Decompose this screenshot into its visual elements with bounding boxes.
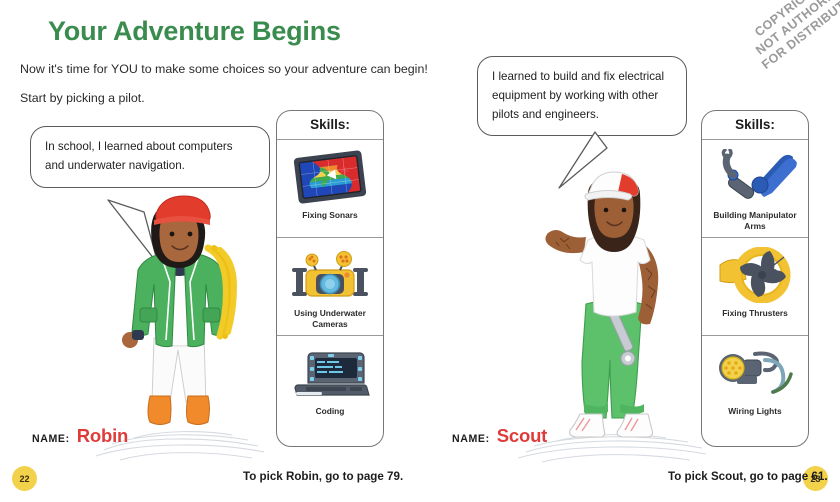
speech-bubble-robin: In school, I learned about computers and…	[30, 126, 270, 188]
intro-text-line-1: Now it's time for YOU to make some choic…	[20, 62, 428, 76]
head-scout	[585, 172, 640, 252]
skill-cell-wiring-lights[interactable]: Wiring Lights	[702, 336, 808, 434]
underwater-camera-icon	[280, 244, 380, 306]
head-robin	[151, 196, 210, 268]
skill-label-manipulator-arms: Building Manipulator Arms	[705, 210, 805, 231]
footer-note-robin[interactable]: To pick Robin, go to page 79.	[243, 470, 403, 483]
book-spread: COPYRIGHTED NOT AUTHORIZED FOR DISTRIBUT…	[0, 0, 840, 502]
watermark-line-2: NOT AUTHORIZED	[750, 0, 840, 60]
green-jacket	[132, 254, 228, 347]
skills-panel-robin: Skills:	[276, 110, 384, 447]
speech-bubble-tail-robin	[100, 198, 190, 270]
name-label-robin: NAME:	[32, 433, 70, 445]
thruster-icon	[705, 244, 805, 306]
copyright-watermark: COPYRIGHTED NOT AUTHORIZED FOR DISTRIBUT…	[740, 0, 840, 72]
watermark-line-1: COPYRIGHTED	[740, 0, 840, 49]
skill-label-underwater-cameras: Using Underwater Cameras	[280, 308, 380, 329]
name-label-scout: NAME:	[452, 433, 490, 445]
skill-label-wiring-lights: Wiring Lights	[728, 406, 781, 417]
rugged-laptop-icon	[280, 342, 380, 404]
sneakers	[570, 414, 653, 437]
speech-bubble-scout: I learned to build and fix electrical eq…	[477, 56, 687, 136]
skill-label-fixing-thrusters: Fixing Thrusters	[722, 308, 788, 319]
skills-heading-robin: Skills:	[277, 111, 383, 140]
camera-lamps	[306, 252, 352, 271]
page-badge-left: 22	[12, 466, 37, 491]
tattoo-right-arm	[646, 268, 655, 309]
skill-label-fixing-sonars: Fixing Sonars	[302, 210, 357, 221]
skill-cell-coding[interactable]: Coding	[277, 336, 383, 434]
page-title: Your Adventure Begins	[48, 16, 341, 47]
manipulator-arm-icon	[705, 146, 805, 208]
sonar-tablet-icon	[280, 146, 380, 208]
wrench	[585, 295, 657, 368]
skill-cell-fixing-sonars[interactable]: Fixing Sonars	[277, 140, 383, 238]
intro-text-line-2: Start by picking a pilot.	[20, 91, 145, 105]
skill-cell-fixing-thrusters[interactable]: Fixing Thrusters	[702, 238, 808, 336]
skill-label-coding: Coding	[316, 406, 345, 417]
name-row-scout: NAME: Scout	[452, 425, 547, 447]
spotlight-icon	[705, 342, 805, 404]
skill-cell-underwater-cameras[interactable]: Using Underwater Cameras	[277, 238, 383, 336]
tattoo-left-arm	[556, 238, 570, 249]
watermark-line-3: FOR DISTRIBUTION	[759, 0, 840, 72]
name-value-robin: Robin	[77, 425, 128, 447]
character-robin	[108, 190, 258, 440]
speech-bubble-tail-scout	[545, 130, 625, 192]
character-scout	[536, 164, 696, 444]
skill-cell-manipulator-arms[interactable]: Building Manipulator Arms	[702, 140, 808, 238]
name-value-scout: Scout	[497, 425, 547, 447]
rope-coil	[208, 248, 234, 336]
skills-panel-scout: Skills: Building Manipulator Arms	[701, 110, 809, 447]
name-row-robin: NAME: Robin	[32, 425, 128, 447]
skills-heading-scout: Skills:	[702, 111, 808, 140]
footer-note-scout[interactable]: To pick Scout, go to page 61.	[668, 470, 828, 483]
boots	[148, 396, 210, 425]
